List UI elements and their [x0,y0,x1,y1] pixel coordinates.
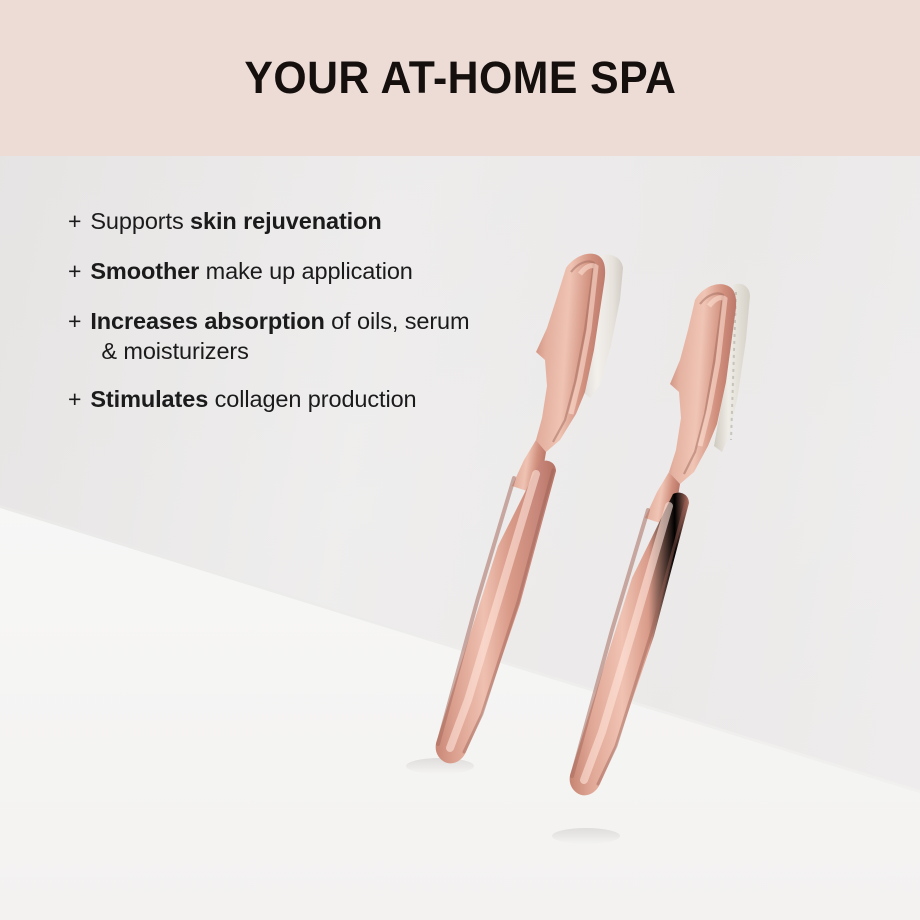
benefits-list: + Supports skin rejuvenation + Smoother … [68,206,538,434]
benefit-1-bold: skin rejuvenation [190,208,382,234]
page-title: YOUR AT-HOME SPA [244,52,676,104]
header-band: YOUR AT-HOME SPA [0,0,920,156]
plus-icon: + [68,306,81,336]
benefit-item-2-text: Smoother make up application [90,256,412,286]
promo-graphic: YOUR AT-HOME SPA [0,0,920,920]
benefit-item-4: + Stimulates collagen production [68,384,538,414]
benefit-item-2: + Smoother make up application [68,256,538,286]
benefit-3-bold: Increases absorption [90,308,324,334]
benefit-item-3-text: Increases absorption of oils, serum& moi… [90,306,469,366]
plus-icon: + [68,384,81,414]
benefit-2-trail: make up application [199,258,413,284]
benefit-3-continuation: & moisturizers [101,336,469,366]
benefit-item-1-text: Supports skin rejuvenation [90,206,381,236]
benefit-1-lead: Supports [90,208,190,234]
benefit-item-4-text: Stimulates collagen production [90,384,416,414]
benefit-4-trail: collagen production [208,386,416,412]
benefit-item-1: + Supports skin rejuvenation [68,206,538,236]
benefit-item-3: + Increases absorption of oils, serum& m… [68,306,538,366]
benefit-4-bold: Stimulates [90,386,208,412]
benefit-3-trail: of oils, serum [325,308,470,334]
plus-icon: + [68,256,81,286]
benefit-2-bold: Smoother [90,258,199,284]
plus-icon: + [68,206,81,236]
